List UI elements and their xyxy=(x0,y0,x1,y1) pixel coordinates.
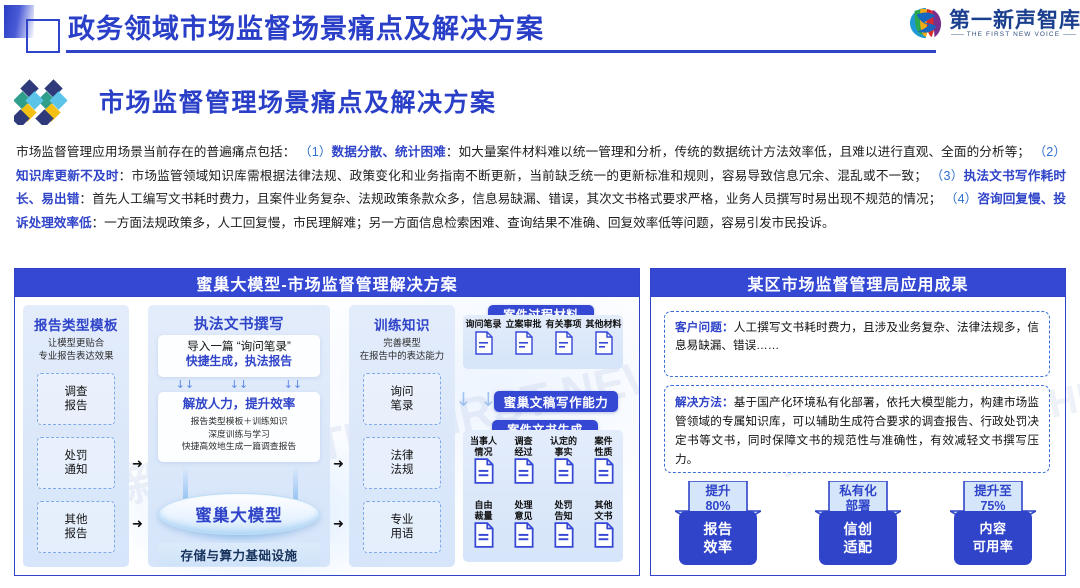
report-template-item-0[interactable]: 调查 报告 xyxy=(37,373,115,425)
flow-down-arrows: ↓ ↓ xyxy=(459,389,493,411)
document-icon xyxy=(513,522,535,548)
report-template-sub-2: 专业报告表达效果 xyxy=(23,350,129,363)
infrastructure-label: 存储与算力基础设施 xyxy=(180,545,297,564)
document-icon xyxy=(473,458,495,484)
kpi-arrow-label-0: 提升 80% xyxy=(675,484,761,514)
double-arrows-row: ↓↓ ↓↓ ↓↓ xyxy=(158,378,320,390)
pain-point-1: （1）数据分散、统计困难：如大量案件材料难以统一管理和分析，传统的数据统计方法效… xyxy=(299,145,1030,159)
customer-problem-card: 客户问题：人工撰写文书耗时费力，且涉及业务复杂、法律法规多，信息易缺漏、错误…… xyxy=(664,311,1050,377)
efficiency-card-line-1: 报告类型模板＋训练知识 xyxy=(158,415,320,428)
efficiency-card-title: 解放人力，提升效率 xyxy=(158,397,320,412)
core-model-ellipse: 蜜巢大模型 xyxy=(158,493,320,535)
page-header: 政务领域市场监督场景痛点及解决方案 第一新声智库 —— THE FIRST NE… xyxy=(0,0,1080,58)
arrow-down-icon-b: ↓↓ xyxy=(230,378,248,391)
report-template-sub-1: 让模型更贴合 xyxy=(23,337,129,350)
import-record-line-2: 快捷生成，执法报告 xyxy=(158,354,320,369)
document-icon xyxy=(553,522,575,548)
solution-panel: 蜜巢大模型-市场监督管理解决方案 第一新声智库 THE FIRST NEW VO… xyxy=(14,268,640,576)
results-panel-title: 某区市场监督管理局应用成果 xyxy=(651,269,1065,297)
solution-method-label: 解决方法： xyxy=(675,396,734,409)
header-divider-rule xyxy=(66,50,936,53)
core-model-label: 蜜巢大模型 xyxy=(195,502,283,526)
solution-method-card: 解决方法：基于国产化环境私有化部署，依托大模型能力，构建市场监管领域的专属知识库… xyxy=(664,385,1050,473)
kpi-box-label-0: 报告 效率 xyxy=(704,520,733,556)
document-icon xyxy=(593,458,615,484)
document-icon xyxy=(593,522,615,548)
globe-swoosh-logo-icon xyxy=(907,6,945,40)
case-material-0[interactable]: 询问笔录 xyxy=(464,319,503,355)
pain-points-paragraph: 市场监督管理应用场景当前存在的普遍痛点包括： （1）数据分散、统计困难：如大量案… xyxy=(16,141,1066,235)
report-template-item-1[interactable]: 处罚 通知 xyxy=(37,437,115,489)
training-knowledge-item-2[interactable]: 专业 用语 xyxy=(363,501,441,553)
brand-logo: 第一新声智库 —— THE FIRST NEW VOICE —— xyxy=(907,5,1072,49)
solution-panel-title: 蜜巢大模型-市场监督管理解决方案 xyxy=(15,269,639,297)
training-knowledge-sub-2: 在报告中的表达能力 xyxy=(349,350,455,363)
infrastructure-bar: 存储与算力基础设施 xyxy=(158,543,320,566)
training-knowledge-item-1[interactable]: 法律 法规 xyxy=(363,437,441,489)
case-material-2[interactable]: 有关事项 xyxy=(544,319,583,355)
generated-doc-5[interactable]: 处理 意见 xyxy=(504,500,543,548)
training-knowledge-sub-1: 完善模型 xyxy=(349,337,455,350)
kpi-box-label-2: 内容 可用率 xyxy=(973,520,1014,556)
document-writing-title: 执法文书撰写 xyxy=(148,313,330,334)
generated-doc-2[interactable]: 认定的 事实 xyxy=(544,436,583,484)
generated-doc-7[interactable]: 其他 文书 xyxy=(584,500,623,548)
brand-logo-tagline: —— THE FIRST NEW VOICE —— xyxy=(951,31,1076,38)
arrow-right-icon-1: ➜ xyxy=(132,458,143,471)
efficiency-card-line-3: 快捷高效地生成一篇调查报告 xyxy=(158,440,320,453)
generated-doc-0[interactable]: 当事人 情况 xyxy=(464,436,503,484)
paragraph-intro: 市场监督管理应用场景当前存在的普遍痛点包括： xyxy=(16,145,295,159)
case-material-1[interactable]: 立案审批 xyxy=(504,319,543,355)
document-icon xyxy=(474,331,494,355)
kpi-arrow-label-2: 提升至 75% xyxy=(950,484,1036,514)
efficiency-card-line-2: 深度训练与学习 xyxy=(158,428,320,441)
kpi-box-1: 信创 适配 xyxy=(819,511,897,565)
generated-doc-6[interactable]: 处罚 告知 xyxy=(544,500,583,548)
arrow-down-icon-a: ↓↓ xyxy=(176,378,194,391)
import-record-card: 导入一篇 “询问笔录” 快捷生成，执法报告 xyxy=(158,335,320,377)
arrow-down-icon-c: ↓↓ xyxy=(284,378,302,391)
arrow-right-icon-2: ➜ xyxy=(132,518,143,531)
training-knowledge-title: 训练知识 xyxy=(349,314,455,334)
document-icon xyxy=(473,522,495,548)
report-template-item-2[interactable]: 其他 报告 xyxy=(37,501,115,553)
customer-problem-label: 客户问题： xyxy=(675,321,734,334)
page-title: 政务领域市场监督场景痛点及解决方案 xyxy=(68,7,544,46)
arrow-left-icon-2: ➜ xyxy=(333,518,344,531)
training-knowledge-item-0[interactable]: 询问 笔录 xyxy=(363,373,441,425)
generated-doc-1[interactable]: 调查 经过 xyxy=(504,436,543,484)
kpi-box-label-1: 信创 适配 xyxy=(844,520,873,556)
kpi-box-0: 报告 效率 xyxy=(679,511,757,565)
kpi-arrow-label-1: 私有化 部署 xyxy=(815,484,901,514)
import-record-line-1: 导入一篇 “询问笔录” xyxy=(158,339,320,354)
generated-doc-3[interactable]: 案件 性质 xyxy=(584,436,623,484)
header-decoration-outline-square xyxy=(26,19,60,53)
section-title: 市场监督管理场景痛点及解决方案 xyxy=(99,83,497,119)
brand-logo-name: 第一新声智库 xyxy=(949,4,1080,34)
writing-capability-pill: 蜜巢文稿写作能力 xyxy=(494,391,618,412)
document-icon xyxy=(594,331,614,355)
arrow-left-icon-1: ➜ xyxy=(333,458,344,471)
case-materials-docs: 询问笔录 立案审批 有关事项 其他材料 xyxy=(463,319,623,371)
results-panel-body: 第一新声智库 THE FIRST NEW VOICE 客户问题：人工撰写文书耗时… xyxy=(651,297,1065,575)
diamond-grid-icon xyxy=(14,79,88,125)
kpi-box-2: 内容 可用率 xyxy=(954,511,1032,565)
document-icon xyxy=(554,331,574,355)
case-material-3[interactable]: 其他材料 xyxy=(584,319,623,355)
report-template-title: 报告类型模板 xyxy=(23,314,129,334)
generated-doc-4[interactable]: 自由 裁量 xyxy=(464,500,503,548)
document-icon xyxy=(513,458,535,484)
document-icon xyxy=(553,458,575,484)
arrow-down-icon-1: ↓ xyxy=(456,391,472,410)
document-generation-docs: 当事人 情况 调查 经过 认定的 事实 案件 性质 自由 裁量 处理 意见 处罚… xyxy=(463,436,623,562)
efficiency-card: 解放人力，提升效率 报告类型模板＋训练知识 深度训练与学习 快捷高效地生成一篇调… xyxy=(158,392,320,462)
document-icon xyxy=(514,331,534,355)
solution-panel-body: 第一新声智库 THE FIRST NEW VOICE 报告类型模板 让模型更贴合… xyxy=(15,297,639,575)
results-panel: 某区市场监督管理局应用成果 第一新声智库 THE FIRST NEW VOICE… xyxy=(650,268,1066,576)
